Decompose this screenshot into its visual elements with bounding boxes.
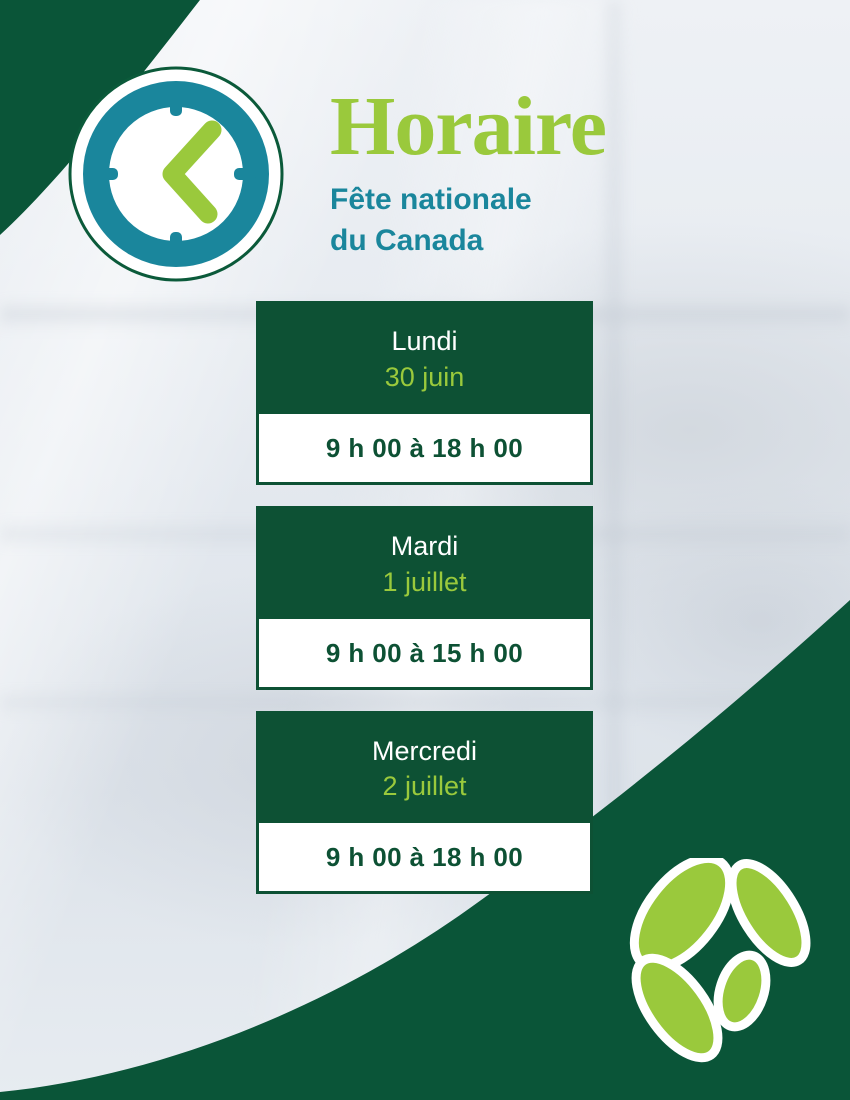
schedule-day-label: Mardi [269, 531, 580, 563]
schedule-card: Mercredi 2 juillet 9 h 00 à 18 h 00 [256, 711, 593, 895]
schedule-card-header: Mardi 1 juillet [259, 509, 590, 619]
poster-heading: Horaire Fête nationale du Canada [330, 88, 750, 261]
schedule-day-label: Lundi [269, 326, 580, 358]
schedule-card-header: Mercredi 2 juillet [259, 714, 590, 824]
schedule-hours-label: 9 h 00 à 15 h 00 [259, 619, 590, 687]
page-title: Horaire [330, 88, 750, 165]
page-subtitle: Fête nationale du Canada [330, 179, 750, 261]
schedule-hours-label: 9 h 00 à 18 h 00 [259, 414, 590, 482]
flower-logo-icon [612, 858, 838, 1064]
schedule-card: Lundi 30 juin 9 h 00 à 18 h 00 [256, 301, 593, 485]
schedule-date-label: 1 juillet [269, 566, 580, 599]
schedule-list: Lundi 30 juin 9 h 00 à 18 h 00 Mardi 1 j… [256, 301, 593, 915]
schedule-day-label: Mercredi [269, 736, 580, 768]
schedule-date-label: 2 juillet [269, 770, 580, 803]
schedule-poster: Horaire Fête nationale du Canada Lundi 3… [0, 0, 850, 1100]
schedule-card-header: Lundi 30 juin [259, 304, 590, 414]
schedule-hours-label: 9 h 00 à 18 h 00 [259, 823, 590, 891]
clock-icon [68, 66, 284, 282]
schedule-date-label: 30 juin [269, 361, 580, 394]
schedule-card: Mardi 1 juillet 9 h 00 à 15 h 00 [256, 506, 593, 690]
